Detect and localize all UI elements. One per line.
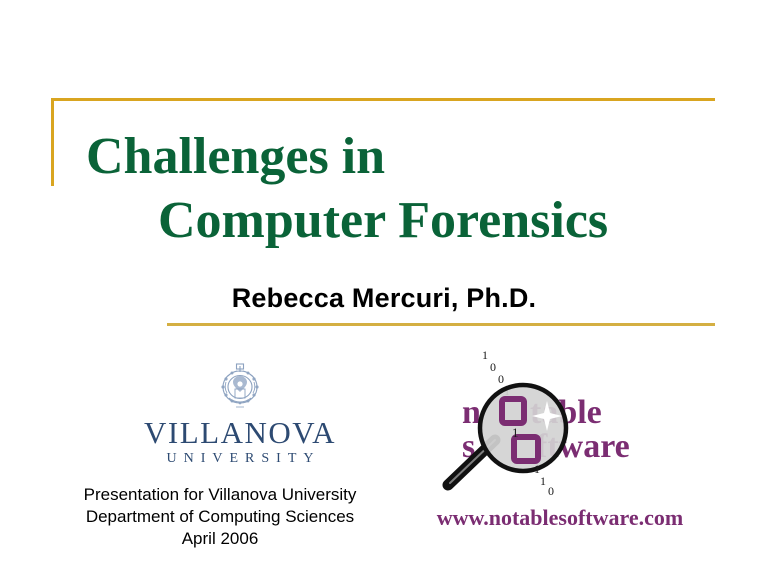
svg-text:0: 0 (548, 484, 554, 495)
svg-text:1: 1 (482, 348, 488, 362)
villanova-seal-icon (214, 360, 266, 412)
decorative-rule-subtitle (167, 323, 715, 326)
presentation-slide: Challenges in Computer Forensics Rebecca… (0, 0, 768, 576)
svg-text:0: 0 (490, 360, 496, 374)
villanova-logo: VILLANOVA UNIVERSITY (108, 360, 372, 468)
slide-title: Challenges in Computer Forensics (0, 125, 768, 253)
svg-text:1: 1 (540, 474, 546, 488)
villanova-university-label: UNIVERSITY (108, 450, 372, 468)
magnifying-glass-lens: 1 (480, 385, 566, 471)
website-url[interactable]: www.notablesoftware.com (395, 505, 725, 531)
slide-subtitle-author: Rebecca Mercuri, Ph.D. (0, 283, 768, 314)
title-line-1: Challenges in (0, 125, 768, 189)
title-line-2: Computer Forensics (0, 189, 768, 253)
notable-software-logo-graphic: 1 0 0 1 n table s ftware (430, 345, 715, 495)
svg-text:1: 1 (556, 494, 562, 495)
decorative-rule-top (51, 98, 715, 101)
credit-line-3: April 2006 (30, 528, 410, 550)
villanova-wordmark: VILLANOVA (108, 416, 372, 450)
notable-software-logo: 1 0 0 1 n table s ftware (430, 345, 715, 495)
credit-line-1: Presentation for Villanova University (30, 484, 410, 506)
binary-digit-inner: 1 (512, 425, 519, 440)
presentation-credit: Presentation for Villanova University De… (30, 484, 410, 550)
binary-digits-bottom: 1 1 0 1 (534, 462, 562, 495)
credit-line-2: Department of Computing Sciences (30, 506, 410, 528)
